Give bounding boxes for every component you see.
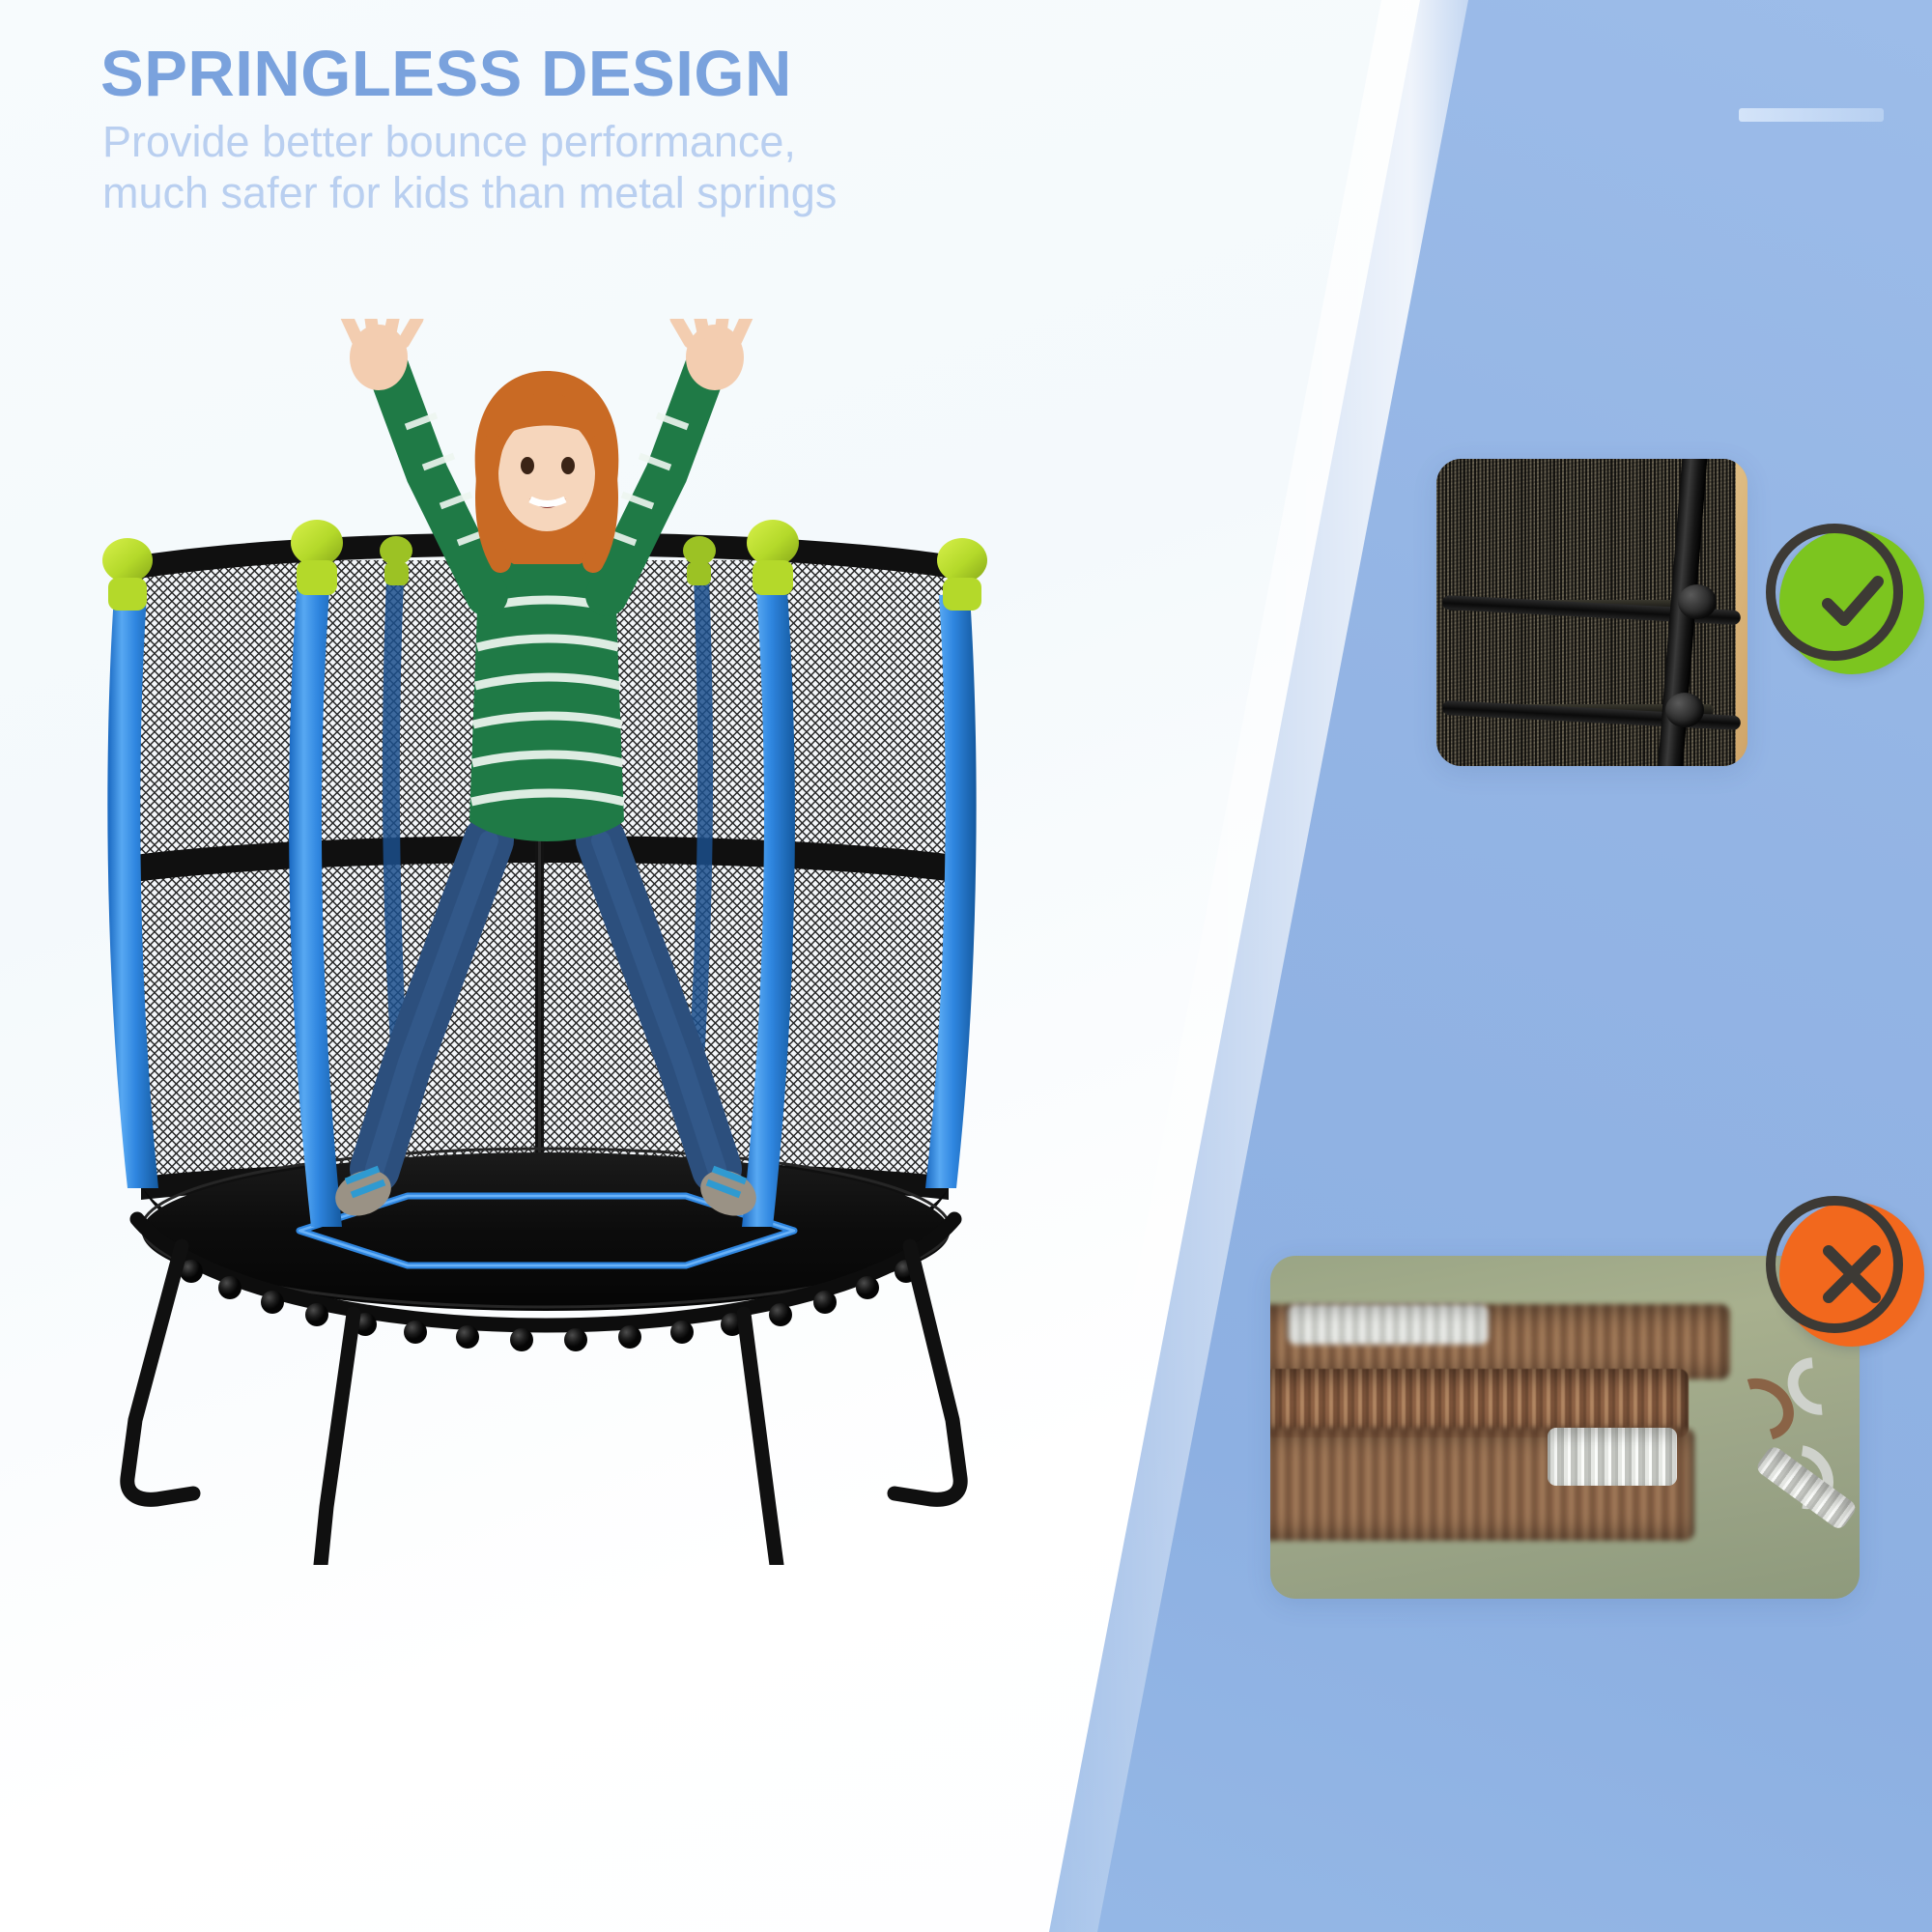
page-title: SPRINGLESS DESIGN: [100, 37, 792, 111]
good-example-photo: [1436, 459, 1747, 766]
pole-cap: [380, 536, 412, 585]
pole-cap: [102, 538, 153, 611]
subtitle-line-1: Provide better bounce performance,: [102, 116, 837, 167]
check-icon: [1810, 560, 1893, 643]
pole-cap: [747, 520, 799, 595]
bad-example-photo: [1270, 1256, 1860, 1599]
face: [498, 415, 595, 531]
accent-bar: [1739, 108, 1884, 122]
page-subtitle: Provide better bounce performance, much …: [102, 116, 837, 218]
pole-cap: [937, 538, 987, 611]
pole-cap: [291, 520, 343, 595]
check-badge: [1779, 529, 1924, 674]
pole-cap: [683, 536, 716, 585]
cross-badge: [1779, 1202, 1924, 1347]
image-canvas: SPRINGLESS DESIGN Provide better bounce …: [0, 0, 1932, 1932]
product-illustration: [68, 319, 1024, 1565]
cross-icon: [1813, 1236, 1890, 1313]
subtitle-line-2: much safer for kids than metal springs: [102, 167, 837, 218]
